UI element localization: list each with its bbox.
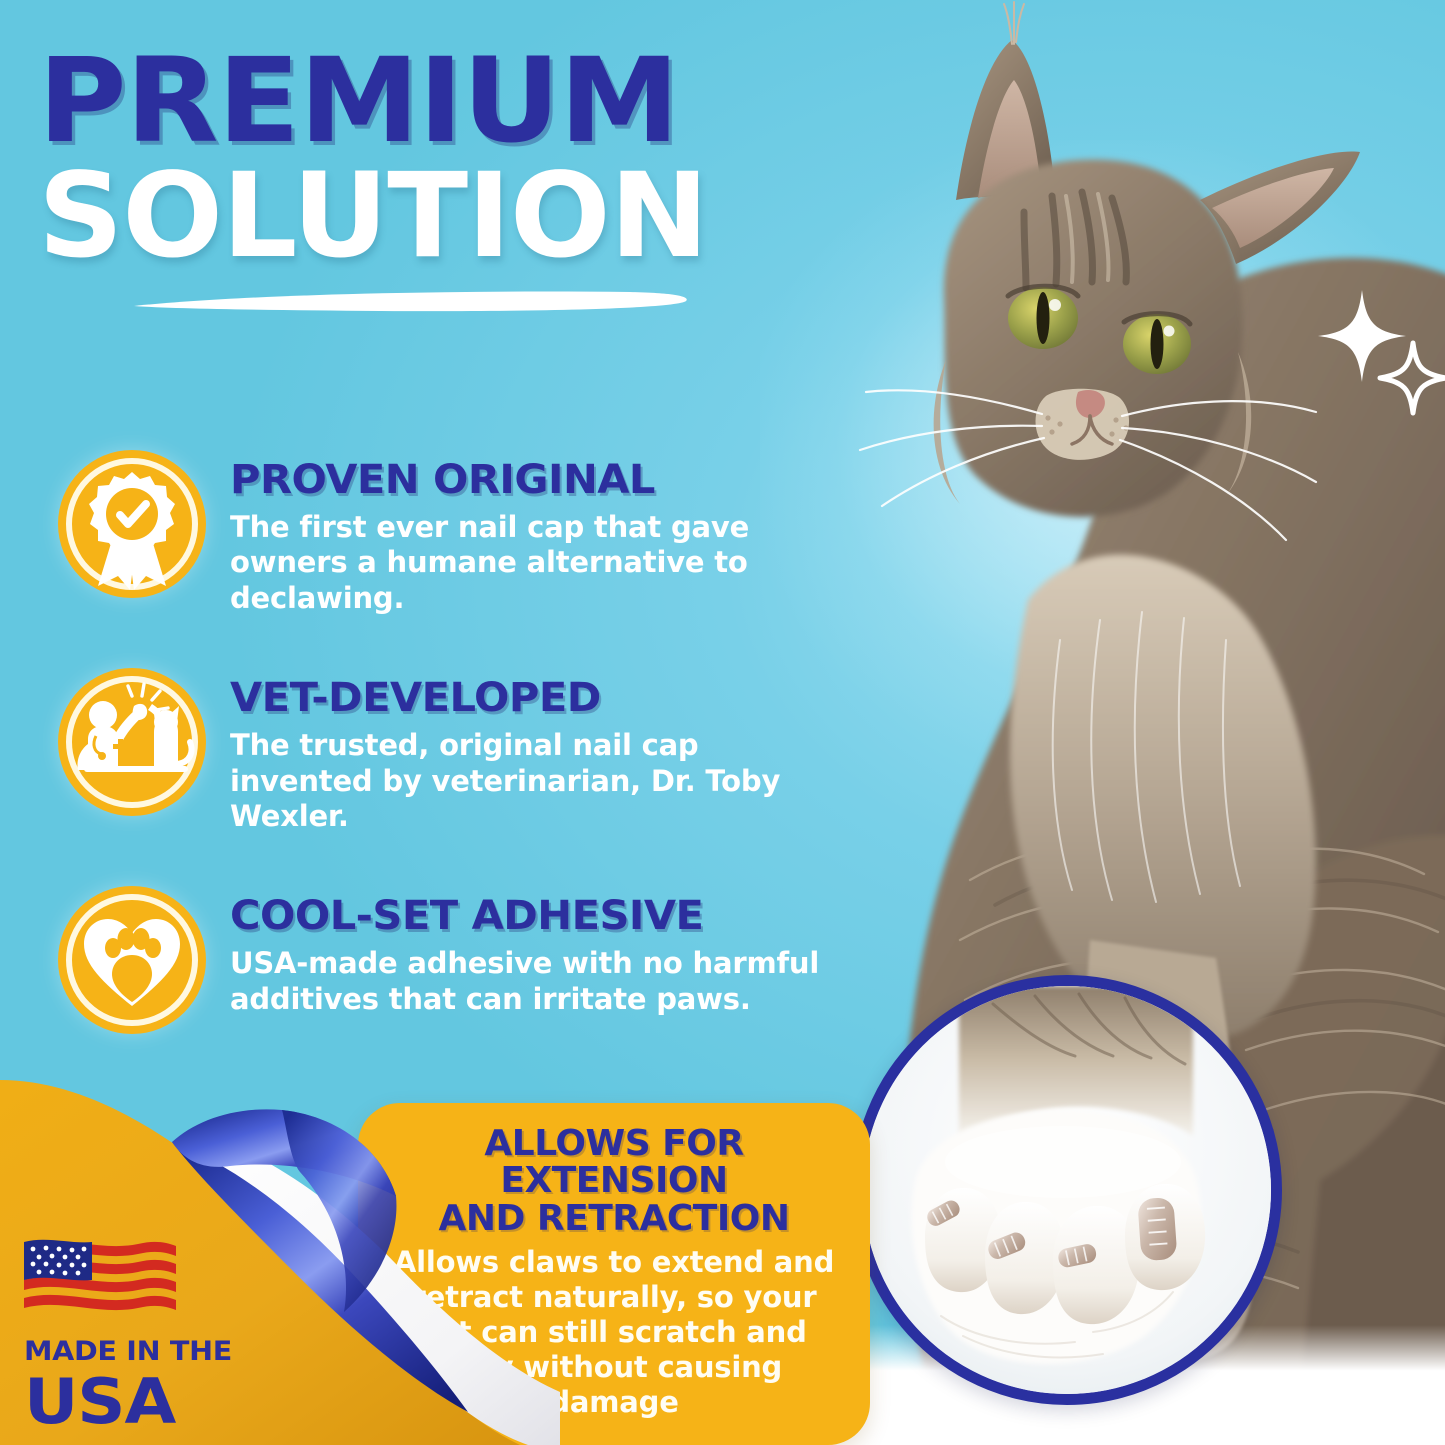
feature-text-block: PROVEN ORIGINAL The first ever nail cap … <box>230 448 846 616</box>
feature-text-block: COOL-SET ADHESIVE USA-made adhesive with… <box>230 884 846 1017</box>
us-flag-icon <box>24 1236 176 1322</box>
usa-label: USA <box>24 1371 272 1433</box>
feature-item-vet-developed: VET-DEVELOPED The trusted, original nail… <box>56 666 846 834</box>
swoosh-divider <box>130 288 690 314</box>
made-in-usa-badge: MADE IN THE USA <box>24 1236 254 1433</box>
headline-block: PREMIUM SOLUTION <box>38 48 828 259</box>
vet-highfive-cat-icon <box>56 666 208 818</box>
sparkle-star-outline-icon <box>1377 340 1445 416</box>
headline-line-premium: PREMIUM <box>38 48 923 155</box>
feature-title: PROVEN ORIGINAL <box>230 460 871 500</box>
feature-text-block: VET-DEVELOPED The trusted, original nail… <box>230 666 846 834</box>
heart-paw-icon <box>56 884 208 1036</box>
award-ribbon-check-icon <box>56 448 208 600</box>
feature-description: The first ever nail cap that gave owners… <box>230 510 820 616</box>
feature-item-proven-original: PROVEN ORIGINAL The first ever nail cap … <box>56 448 846 616</box>
feature-title: VET-DEVELOPED <box>230 678 871 718</box>
feature-list: PROVEN ORIGINAL The first ever nail cap … <box>56 448 846 1086</box>
cat-paw-inset-photo <box>852 975 1282 1405</box>
made-in-the-label: MADE IN THE <box>24 1338 268 1365</box>
headline-line-solution: SOLUTION <box>38 163 939 270</box>
feature-description: USA-made adhesive with no harmful additi… <box>230 946 820 1017</box>
feature-title: COOL-SET ADHESIVE <box>230 896 871 936</box>
product-feature-poster: PREMIUM SOLUTION <box>0 0 1445 1445</box>
feature-item-cool-set-adhesive: COOL-SET ADHESIVE USA-made adhesive with… <box>56 884 846 1036</box>
feature-description: The trusted, original nail cap invented … <box>230 728 820 834</box>
